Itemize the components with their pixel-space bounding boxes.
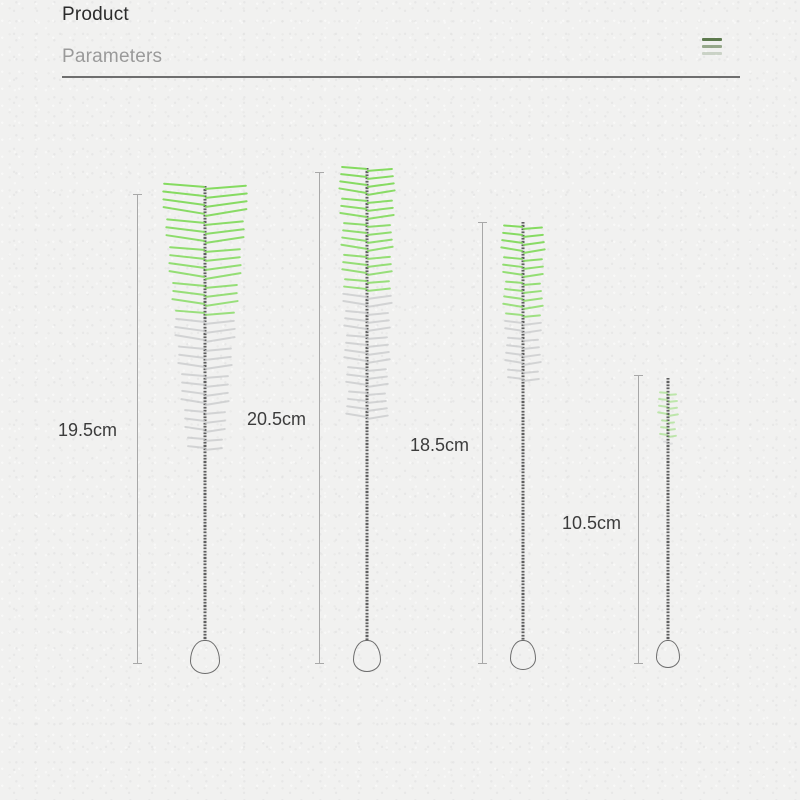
bristle xyxy=(205,411,226,415)
brush-4 xyxy=(608,0,728,800)
bristle xyxy=(346,334,367,338)
bristle xyxy=(162,206,205,215)
bristle xyxy=(668,428,676,431)
bristle xyxy=(345,342,367,347)
bristle xyxy=(367,214,395,221)
bristle xyxy=(205,300,239,307)
bristle xyxy=(523,314,541,318)
bristle xyxy=(205,256,241,262)
bristle xyxy=(502,271,524,277)
bristle xyxy=(175,326,206,333)
bristle xyxy=(344,349,367,354)
page-title: Product xyxy=(62,4,129,26)
bristle xyxy=(367,344,389,349)
bristle xyxy=(367,392,386,396)
bristle xyxy=(523,346,540,350)
bristle xyxy=(658,405,669,409)
bristle xyxy=(205,320,235,326)
bristle xyxy=(341,236,367,242)
bristle xyxy=(501,239,523,244)
bristle xyxy=(181,373,205,377)
bristle xyxy=(523,361,542,366)
bristle xyxy=(344,278,367,282)
header-divider xyxy=(62,76,740,78)
bristle xyxy=(367,270,393,276)
bristle xyxy=(523,297,543,302)
bristle xyxy=(171,298,205,305)
bristle xyxy=(343,293,368,299)
bristle xyxy=(205,419,226,424)
bristle xyxy=(502,232,523,237)
dimension-line-19.5cm xyxy=(133,194,142,664)
brush-loop-handle xyxy=(190,640,220,674)
bristle xyxy=(367,319,390,324)
bristle xyxy=(523,248,546,254)
bristle xyxy=(523,371,539,375)
bristle xyxy=(503,224,523,228)
bristle xyxy=(181,381,205,386)
bristle xyxy=(523,226,543,230)
menu-bar-1 xyxy=(702,38,722,41)
bristle xyxy=(205,228,245,235)
bristle xyxy=(505,281,523,285)
bristle xyxy=(341,198,367,203)
bristle xyxy=(347,366,368,370)
bristle xyxy=(367,224,392,228)
dimension-label-brush-4: 10.5cm xyxy=(562,513,621,534)
bristle xyxy=(504,359,523,364)
bristle xyxy=(523,322,542,327)
bristle xyxy=(523,305,544,311)
brush-head xyxy=(307,168,427,430)
bristle xyxy=(367,200,393,205)
bristle xyxy=(205,383,229,388)
bristle xyxy=(367,326,391,332)
dimension-cap-top xyxy=(133,194,142,195)
bristle xyxy=(339,180,367,186)
bristle xyxy=(174,334,205,341)
bristle xyxy=(367,182,395,188)
bristle xyxy=(523,241,545,246)
bristle xyxy=(367,256,391,261)
dimension-label-brush-2: 20.5cm xyxy=(247,409,306,430)
bristle xyxy=(169,254,205,260)
bristle xyxy=(338,187,367,194)
bristle xyxy=(504,327,524,332)
bristle xyxy=(523,354,541,359)
bristle xyxy=(367,312,389,316)
bristle xyxy=(205,347,232,352)
bristle xyxy=(367,336,388,340)
bristle xyxy=(668,393,677,396)
bristle xyxy=(502,264,523,269)
bristle xyxy=(367,175,394,180)
bristle xyxy=(507,369,523,373)
bristle xyxy=(367,375,389,380)
bristle xyxy=(506,344,523,348)
bristle xyxy=(340,173,367,178)
bristle xyxy=(205,220,244,226)
bristle xyxy=(367,400,387,405)
bristle xyxy=(344,317,367,322)
bristle xyxy=(668,407,679,411)
bristle xyxy=(340,244,367,251)
bristle xyxy=(503,295,523,300)
bristle xyxy=(367,287,391,292)
bristle xyxy=(172,282,205,287)
bristle xyxy=(169,262,206,269)
bristle xyxy=(178,362,206,368)
menu-bar-3 xyxy=(702,52,722,55)
bristle xyxy=(523,283,541,287)
dimension-label-brush-1: 19.5cm xyxy=(58,420,117,441)
bristle xyxy=(668,443,673,446)
bristle xyxy=(345,310,367,314)
bristle xyxy=(367,368,388,372)
bristle xyxy=(367,263,392,268)
bristle xyxy=(668,435,677,439)
bristle xyxy=(172,290,205,296)
page-subtitle: Parameters xyxy=(62,46,162,68)
bristle xyxy=(367,383,389,389)
bristle xyxy=(178,354,205,360)
dimension-cap-bottom xyxy=(133,663,142,664)
bristle xyxy=(345,412,367,418)
bristle xyxy=(367,280,390,284)
bristle xyxy=(505,352,523,357)
bristle xyxy=(367,207,394,213)
bristle xyxy=(205,292,238,298)
dimension-label-brush-3: 18.5cm xyxy=(410,435,469,456)
bristle xyxy=(367,168,393,172)
bristle xyxy=(184,426,206,432)
brush-loop-handle xyxy=(510,640,536,670)
bristle xyxy=(367,295,392,301)
bristle xyxy=(205,328,236,335)
page-header: Product Parameters xyxy=(62,0,740,78)
bristle xyxy=(340,205,367,211)
dimension-line-stem xyxy=(137,194,138,664)
bristle xyxy=(507,337,523,341)
bristle xyxy=(523,329,543,334)
bristle xyxy=(367,189,396,196)
hamburger-menu-icon[interactable] xyxy=(702,38,722,56)
bristle xyxy=(367,246,394,253)
bristle xyxy=(343,254,367,259)
bristle xyxy=(184,417,205,422)
product-diagram: 19.5cm20.5cm18.5cm10.5cm xyxy=(0,0,800,800)
bristle xyxy=(205,400,230,406)
bristle xyxy=(367,407,388,412)
bristle xyxy=(205,284,238,289)
bristle xyxy=(668,413,679,417)
bristle xyxy=(341,268,367,274)
bristle xyxy=(175,310,205,315)
bristle xyxy=(506,376,523,380)
bristle xyxy=(343,222,368,226)
bristle xyxy=(367,351,390,356)
bristle xyxy=(348,390,367,394)
bristle xyxy=(343,356,367,362)
bristle xyxy=(339,212,367,219)
bristle xyxy=(345,381,367,387)
bristle xyxy=(523,234,544,239)
bristle xyxy=(523,378,540,382)
bristle xyxy=(500,246,523,252)
brush-1 xyxy=(145,0,265,800)
bristle xyxy=(187,445,205,449)
brush-2 xyxy=(307,0,427,800)
bristle xyxy=(341,166,367,170)
bristle xyxy=(367,238,393,244)
bristle xyxy=(346,405,367,410)
bristle xyxy=(178,345,205,350)
brush-loop-handle xyxy=(353,640,381,672)
bristle xyxy=(523,273,545,279)
bristle xyxy=(205,236,245,244)
bristle xyxy=(367,358,391,364)
bristle xyxy=(505,312,523,316)
bristle xyxy=(205,248,241,253)
bristle xyxy=(166,218,205,224)
bristle xyxy=(180,398,205,404)
bristle xyxy=(205,364,233,370)
bristle xyxy=(205,439,223,443)
bristle xyxy=(658,398,668,401)
bristle xyxy=(205,356,232,362)
bristle xyxy=(523,258,543,262)
bristle xyxy=(181,390,205,396)
bristle xyxy=(523,266,544,271)
brush-head xyxy=(608,392,728,454)
bristle xyxy=(205,312,235,317)
bristle xyxy=(163,183,205,189)
bristle xyxy=(346,373,368,378)
bristle xyxy=(163,190,206,197)
bristle xyxy=(205,200,248,208)
bristle xyxy=(523,339,539,343)
bristle xyxy=(205,447,223,451)
bristle xyxy=(343,285,367,290)
bristle xyxy=(504,288,523,292)
brush-loop-handle xyxy=(656,640,680,668)
brush-head xyxy=(463,226,583,386)
bristle xyxy=(367,414,389,420)
bristle xyxy=(205,375,229,379)
bristle xyxy=(205,392,229,398)
bristle xyxy=(205,185,247,191)
bristle xyxy=(165,234,205,242)
bristle xyxy=(668,400,678,403)
bristle xyxy=(502,303,523,309)
bristle xyxy=(367,231,392,236)
bristle xyxy=(205,336,236,343)
bristle xyxy=(657,411,668,415)
bristle xyxy=(367,302,393,309)
bristle xyxy=(205,264,242,271)
bristle xyxy=(205,192,248,199)
bristle xyxy=(205,428,227,434)
bristle xyxy=(659,391,668,394)
bristle xyxy=(342,229,367,234)
bristle xyxy=(175,318,205,324)
bristle xyxy=(668,421,676,424)
bristle xyxy=(205,272,242,280)
bristle xyxy=(168,270,205,278)
bristle xyxy=(523,290,542,294)
bristle xyxy=(166,226,206,233)
brush-3 xyxy=(463,0,583,800)
bristle xyxy=(169,246,205,251)
bristle xyxy=(342,261,367,266)
menu-bar-2 xyxy=(702,45,722,48)
bristle xyxy=(343,324,367,330)
bristle xyxy=(342,300,368,307)
bristle xyxy=(347,398,367,403)
bristle xyxy=(503,256,523,260)
bristle xyxy=(205,208,248,217)
bristle xyxy=(162,198,205,206)
bristle xyxy=(187,437,205,441)
bristle xyxy=(504,320,523,325)
bristle xyxy=(184,409,205,413)
